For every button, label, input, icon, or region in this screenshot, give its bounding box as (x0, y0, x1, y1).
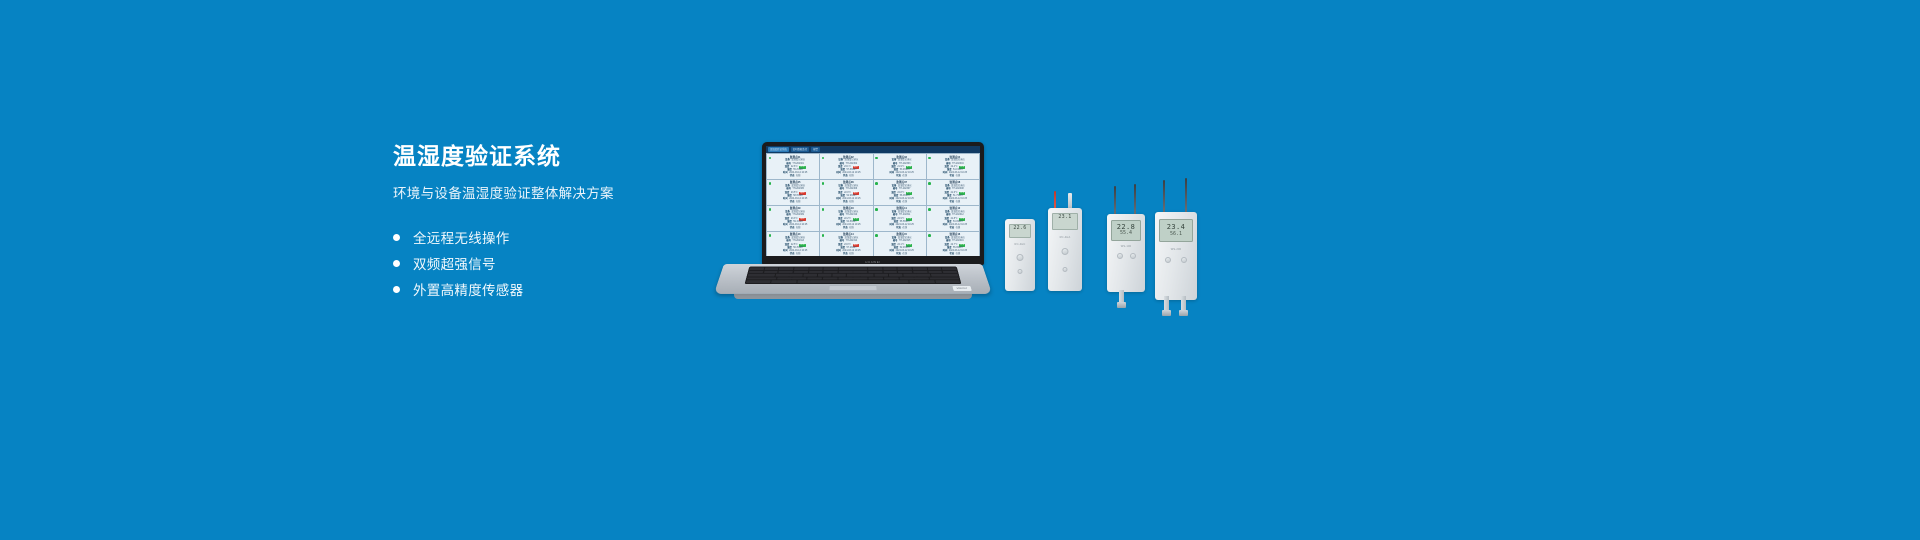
sensor-field-key: 时间 (783, 224, 788, 227)
sensor-field-value: 在线 (849, 201, 854, 204)
device-model-label: RC-4HC (1005, 243, 1035, 246)
keyboard-key[interactable] (875, 274, 889, 277)
list-item: 全远程无线操作 (393, 224, 733, 250)
sensor-field-value: 在线 (902, 227, 907, 230)
sensor-card-row: 状态在线 (880, 227, 924, 230)
sensor-card-row: 状态在线 (826, 253, 870, 256)
keyboard-key[interactable] (846, 274, 859, 277)
keyboard-key[interactable] (913, 271, 928, 273)
device-display: 22.6 (1009, 224, 1032, 238)
keyboard-key[interactable] (896, 280, 908, 283)
sensor-card[interactable]: 监测点16设备温湿度记录仪编号TH-202316温度22.7℃正常湿度55.9%… (927, 232, 979, 256)
keyboard-key[interactable] (818, 274, 832, 277)
sensor-card-row: 状态在线 (773, 227, 817, 230)
keyboard-key[interactable] (930, 277, 960, 280)
laptop-base: ENERGY (718, 264, 988, 302)
device-button-right[interactable] (1181, 257, 1187, 263)
sensor-field-value: 在线 (849, 175, 854, 178)
status-indicator-icon (875, 208, 878, 211)
sensor-field-key: 时间 (943, 198, 948, 201)
sensor-field-value: 在线 (849, 227, 854, 230)
sensor-field-key: 状态 (950, 253, 955, 256)
sensor-field-key: 时间 (836, 250, 841, 253)
sensor-field-key: 时间 (890, 224, 895, 227)
sensor-field-key: 时间 (890, 198, 895, 201)
status-indicator-icon (928, 234, 931, 237)
sensor-field-key: 时间 (783, 172, 788, 175)
sensor-card[interactable]: 监测点15设备温湿度记录仪编号TH-202315温度22.1℃正常湿度52.4%… (874, 232, 926, 256)
device-humidity-reading: 55.4 (1120, 231, 1132, 236)
status-indicator-icon (928, 208, 931, 211)
keyboard-key[interactable] (779, 267, 793, 269)
device-display: 23.4 56.1 (1159, 219, 1193, 242)
sensor-card-row: 状态在线 (773, 175, 817, 178)
sensor-field-value: 在线 (796, 227, 801, 230)
antenna-icon (1185, 178, 1187, 214)
dot-bullet-icon (393, 260, 400, 267)
dashboard-topbar: 温湿度验证系统 实时数据监控 报警 (766, 146, 980, 153)
keyboard-key[interactable] (792, 277, 807, 280)
sensor-field-key: 状态 (896, 175, 901, 178)
device-button-right[interactable] (1130, 253, 1136, 259)
antenna-icon (1163, 180, 1165, 214)
status-indicator-icon (822, 208, 825, 211)
sensor-field-key: 状态 (950, 201, 955, 204)
sensor-card-row: 状态在线 (933, 253, 977, 256)
device-model-label: RC-4HA (1048, 236, 1082, 239)
device-reading: 22.6 (1013, 225, 1026, 231)
keyboard-key[interactable] (927, 267, 942, 269)
sensor-field-key: 时间 (836, 198, 841, 201)
status-indicator-icon (822, 182, 825, 185)
keyboard-key[interactable] (797, 280, 809, 283)
keyboard-key[interactable] (853, 277, 868, 280)
sensor-card[interactable]: 监测点12设备温湿度记录仪编号TH-202312温度21.8℃正常湿度53.0%… (927, 206, 979, 231)
sensor-card-row: 状态在线 (826, 227, 870, 230)
keyboard-key[interactable] (931, 274, 958, 277)
wireless-sensor-b: 23.4 56.1 WS-200 (1155, 212, 1197, 300)
keyboard-key[interactable] (810, 280, 895, 283)
laptop-screen: 温湿度验证系统 实时数据监控 报警 监测点01设备温湿度记录仪编号TH-2023… (766, 146, 980, 256)
sensor-card-row: 状态在线 (826, 175, 870, 178)
feature-list: 全远程无线操作 双频超强信号 外置高精度传感器 (393, 224, 733, 302)
keyboard-key[interactable] (824, 267, 838, 269)
keyboard-key[interactable] (853, 271, 867, 273)
device-button[interactable] (1062, 248, 1069, 255)
keyboard-key[interactable] (861, 274, 874, 277)
sensor-card[interactable]: 监测点11设备温湿度记录仪编号TH-202311温度22.9℃正常湿度55.5%… (874, 206, 926, 231)
keyboard-key[interactable] (747, 277, 777, 280)
wireless-sensor-a: 22.8 55.4 WS-100 (1107, 214, 1145, 292)
dot-bullet-icon (393, 234, 400, 241)
device-humidity-reading: 56.1 (1170, 232, 1182, 237)
sensor-field-value: 在线 (796, 201, 801, 204)
keyboard-key[interactable] (771, 280, 784, 283)
status-indicator-icon (875, 182, 878, 185)
keyboard-key[interactable] (777, 277, 792, 280)
sensor-field-key: 状态 (950, 175, 955, 178)
keyboard-key[interactable] (883, 271, 897, 273)
status-indicator-icon (769, 182, 772, 185)
sensor-card-row: 状态在线 (773, 201, 817, 204)
sensor-field-key: 状态 (896, 201, 901, 204)
status-indicator-icon (769, 157, 772, 160)
keyboard-key[interactable] (784, 280, 797, 283)
keyboard-key[interactable] (823, 271, 837, 273)
keyboard-key[interactable] (749, 271, 764, 273)
sensor-card[interactable]: 监测点08设备温湿度记录仪编号TH-202308温度21.6℃正常湿度51.7%… (927, 180, 979, 205)
sensor-field-key: 时间 (890, 250, 895, 253)
sensor-field-key: 状态 (843, 253, 848, 256)
sensor-card-row: 状态在线 (880, 201, 924, 204)
antenna-icon (1114, 186, 1116, 216)
sensor-card-row: 状态在线 (933, 175, 977, 178)
deck-sticker: ENERGY (952, 286, 971, 291)
device-button-left[interactable] (1165, 257, 1171, 263)
keyboard-key[interactable] (898, 271, 912, 273)
sensor-card-grid: 监测点01设备温湿度记录仪编号TH-202301温度22.6℃正常湿度55.2%… (766, 153, 980, 256)
keyboard-key[interactable] (912, 267, 926, 269)
keyboard-key[interactable] (748, 274, 775, 277)
sensor-card-row: 状态在线 (933, 201, 977, 204)
sensor-card[interactable]: 监测点05设备温湿度记录仪编号TH-202305温度23.5℃超限湿度58.6%… (767, 180, 819, 205)
keyboard-key[interactable] (922, 280, 935, 283)
keyboard-key[interactable] (838, 271, 852, 273)
sensor-field-value: 在线 (956, 253, 961, 256)
laptop-keyboard-deck: ENERGY (714, 264, 992, 294)
sensor-probe-cap-icon (1162, 310, 1171, 316)
keyboard-key[interactable] (808, 271, 822, 273)
sensor-probe-cap-icon (1179, 310, 1188, 316)
list-item: 双频超强信号 (393, 250, 733, 276)
keyboard-row (748, 274, 959, 277)
laptop-foot (734, 294, 972, 299)
sensor-card[interactable]: 监测点10设备温湿度记录仪编号TH-202310温度22.2℃正常湿度54.8%… (820, 206, 872, 231)
sensor-card-row: 状态在线 (933, 227, 977, 230)
sensor-field-key: 状态 (896, 253, 901, 256)
feature-label: 外置高精度传感器 (413, 279, 523, 299)
probe-tip-icon (1068, 193, 1072, 209)
sensor-field-key: 状态 (843, 227, 848, 230)
status-indicator-icon (875, 234, 878, 237)
keyboard-row (749, 271, 958, 273)
sensor-card[interactable]: 监测点14设备温湿度记录仪编号TH-202314温度23.0℃超限湿度57.2%… (820, 232, 872, 256)
keyboard-key[interactable] (823, 277, 838, 280)
sensor-card[interactable]: 监测点06设备温湿度记录仪编号TH-202306温度22.0℃超限湿度52.9%… (820, 180, 872, 205)
tab-realtime[interactable]: 实时数据监控 (791, 147, 809, 152)
antenna-icon (1134, 184, 1136, 216)
sensor-field-value: 在线 (796, 175, 801, 178)
dot-bullet-icon (393, 286, 400, 293)
sensor-field-key: 状态 (950, 227, 955, 230)
sensor-field-key: 时间 (783, 198, 788, 201)
product-banner: 温湿度验证系统 环境与设备温湿度验证整体解决方案 全远程无线操作 双频超强信号 … (0, 0, 1920, 540)
keyboard-key[interactable] (807, 277, 822, 280)
keyboard-key[interactable] (868, 267, 882, 269)
keyboard-key[interactable] (914, 277, 929, 280)
sensor-field-key: 时间 (836, 172, 841, 175)
sensor-card-row: 状态在线 (826, 201, 870, 204)
sensor-field-value: 在线 (902, 175, 907, 178)
laptop-brand-logo: HUAWEI (762, 260, 984, 264)
device-display: 22.8 55.4 (1111, 220, 1141, 240)
status-indicator-icon (875, 157, 878, 160)
tab-system[interactable]: 温湿度验证系统 (768, 147, 789, 152)
sensor-field-key: 时间 (890, 172, 895, 175)
keyboard-key[interactable] (898, 267, 912, 269)
sensor-card[interactable]: 监测点09设备温湿度记录仪编号TH-202309温度23.3℃超限湿度59.1%… (767, 206, 819, 231)
sensor-field-value: 在线 (956, 175, 961, 178)
keyboard-key[interactable] (889, 274, 903, 277)
sensor-card-row: 状态在线 (880, 175, 924, 178)
keyboard-key[interactable] (943, 271, 958, 273)
sensor-card[interactable]: 监测点03设备温湿度记录仪编号TH-202303温度21.9℃正常湿度53.4%… (874, 154, 926, 179)
status-indicator-icon (928, 157, 931, 160)
data-logger-probe: 23.1 RC-4HA (1048, 205, 1082, 291)
sensor-probe-cap-icon (1117, 302, 1126, 308)
sensor-field-value: 在线 (956, 201, 961, 204)
keyboard-key[interactable] (775, 274, 789, 277)
sensor-field-key: 时间 (783, 250, 788, 253)
sensor-card-row: 状态在线 (880, 253, 924, 256)
feature-label: 双频超强信号 (413, 253, 496, 273)
device-button[interactable] (1017, 254, 1024, 261)
keyboard-key[interactable] (746, 280, 771, 283)
keyboard-key[interactable] (749, 267, 764, 269)
keyboard-key[interactable] (794, 267, 808, 269)
sensor-field-key: 状态 (790, 201, 795, 204)
keyboard-key[interactable] (793, 271, 807, 273)
sensor-field-key: 时间 (836, 224, 841, 227)
laptop-keyboard[interactable] (745, 267, 962, 284)
keyboard-key[interactable] (928, 271, 943, 273)
keyboard-key[interactable] (909, 280, 922, 283)
sensor-field-value: 在线 (902, 253, 907, 256)
keyboard-key[interactable] (764, 267, 779, 269)
keyboard-key[interactable] (804, 274, 818, 277)
device-model-label: WS-100 (1107, 245, 1145, 248)
sensor-card[interactable]: 监测点01设备温湿度记录仪编号TH-202301温度22.6℃正常湿度55.2%… (767, 154, 819, 179)
keyboard-key[interactable] (809, 267, 823, 269)
sensor-field-key: 状态 (843, 175, 848, 178)
sensor-field-value: 在线 (849, 253, 854, 256)
keyboard-row (747, 277, 959, 280)
keyboard-key[interactable] (884, 277, 899, 280)
keyboard-key[interactable] (935, 280, 960, 283)
sensor-field-key: 时间 (943, 224, 948, 227)
keyboard-key[interactable] (853, 267, 867, 269)
keyboard-key[interactable] (868, 271, 882, 273)
keyboard-key[interactable] (789, 274, 803, 277)
keyboard-key[interactable] (917, 274, 931, 277)
keyboard-key[interactable] (883, 267, 897, 269)
device-secondary-button[interactable] (1063, 267, 1068, 272)
keyboard-row (749, 267, 956, 269)
banner-copy: 温湿度验证系统 环境与设备温湿度验证整体解决方案 全远程无线操作 双频超强信号 … (393, 143, 733, 302)
sensor-field-value: 在线 (902, 201, 907, 204)
tab-alarm[interactable]: 报警 (811, 147, 820, 152)
sensor-card[interactable]: 监测点13设备温湿度记录仪编号TH-202313温度22.5℃正常湿度56.3%… (767, 232, 819, 256)
keyboard-key[interactable] (832, 274, 845, 277)
keyboard-key[interactable] (779, 271, 794, 273)
sensor-field-key: 状态 (896, 227, 901, 230)
laptop-lid: 温湿度验证系统 实时数据监控 报警 监测点01设备温湿度记录仪编号TH-2023… (762, 142, 984, 265)
sensor-field-value: 在线 (796, 253, 801, 256)
status-indicator-icon (769, 234, 772, 237)
data-logger-small: 22.6 RC-4HC (1005, 219, 1035, 291)
device-secondary-button[interactable] (1018, 269, 1023, 274)
device-button-left[interactable] (1117, 253, 1123, 259)
laptop-product-image: 温湿度验证系统 实时数据监控 报警 监测点01设备温湿度记录仪编号TH-2023… (718, 142, 988, 302)
sensor-field-key: 状态 (790, 253, 795, 256)
sensor-card[interactable]: 监测点07设备温湿度记录仪编号TH-202307温度22.8℃正常湿度56.0%… (874, 180, 926, 205)
sensor-field-key: 状态 (843, 201, 848, 204)
keyboard-key[interactable] (764, 271, 779, 273)
device-display: 23.1 (1052, 213, 1078, 230)
keyboard-key[interactable] (839, 267, 853, 269)
sensor-card[interactable]: 监测点04设备温湿度记录仪编号TH-202304温度22.4℃正常湿度54.1%… (927, 154, 979, 179)
sensor-field-key: 状态 (790, 227, 795, 230)
sensor-card[interactable]: 监测点02设备温湿度记录仪编号TH-202302温度23.1℃超限湿度57.8%… (820, 154, 872, 179)
list-item: 外置高精度传感器 (393, 276, 733, 302)
status-indicator-icon (928, 182, 931, 185)
sensor-field-value: 在线 (956, 227, 961, 230)
keyboard-key[interactable] (838, 277, 853, 280)
status-indicator-icon (822, 157, 825, 160)
status-indicator-icon (822, 234, 825, 237)
keyboard-key[interactable] (899, 277, 914, 280)
status-indicator-icon (769, 208, 772, 211)
feature-label: 全远程无线操作 (413, 227, 510, 247)
sensor-field-key: 状态 (790, 175, 795, 178)
device-model-label: WS-200 (1155, 248, 1197, 251)
sensor-field-key: 时间 (943, 250, 948, 253)
keyboard-key[interactable] (903, 274, 917, 277)
sensor-card-row: 状态在线 (773, 253, 817, 256)
keyboard-key[interactable] (869, 277, 884, 280)
laptop-trackpad[interactable] (828, 285, 877, 291)
device-reading: 23.1 (1058, 214, 1071, 220)
sensor-field-key: 时间 (943, 172, 948, 175)
page-title: 温湿度验证系统 (393, 143, 733, 169)
probe-wire-icon (1054, 191, 1056, 209)
keyboard-key[interactable] (942, 267, 957, 269)
keyboard-row (746, 280, 960, 283)
banner-subtitle: 环境与设备温湿度验证整体解决方案 (393, 182, 733, 202)
